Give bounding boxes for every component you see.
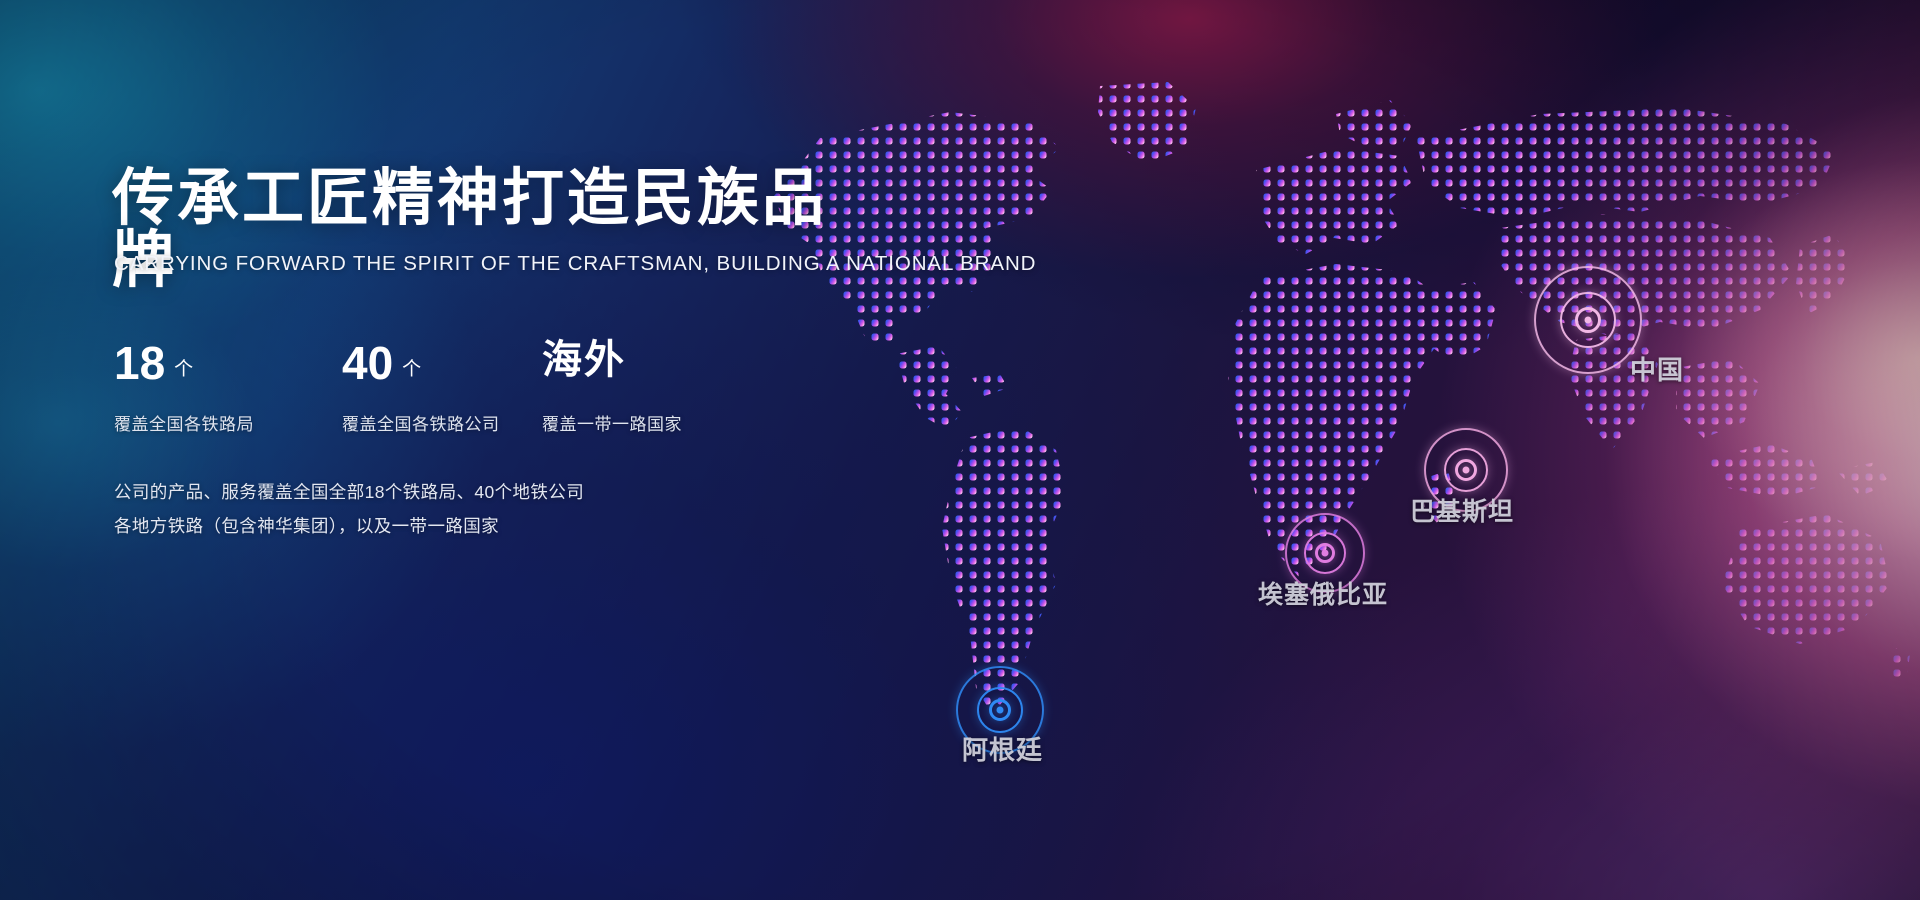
stat-item-overseas: 海外 覆盖一带一路国家 <box>542 340 682 435</box>
stat-value-row: 18 个 <box>114 340 342 396</box>
marker-center-dot-icon <box>997 707 1004 714</box>
stat-description: 覆盖一带一路国家 <box>542 410 682 435</box>
banner-stage: 中国巴基斯坦埃塞俄比亚阿根廷 传承工匠精神打造民族品牌 CARRYING FOR… <box>0 0 1920 900</box>
body-paragraph-line-1: 公司的产品、服务覆盖全国全部18个铁路局、40个地铁公司 <box>114 475 584 509</box>
marker-center-dot-icon <box>1322 550 1329 557</box>
body-paragraph: 公司的产品、服务覆盖全国全部18个铁路局、40个地铁公司 各地方铁路（包含神华集… <box>114 475 584 543</box>
stat-description: 覆盖全国各铁路公司 <box>342 410 542 435</box>
stat-unit: 个 <box>402 354 421 381</box>
stat-value: 18 <box>114 340 165 386</box>
stat-item-railway-companies: 40 个 覆盖全国各铁路公司 <box>342 340 542 435</box>
stat-value: 40 <box>342 340 393 386</box>
map-marker-label-ethiopia: 埃塞俄比亚 <box>1258 575 1388 611</box>
stat-value: 海外 <box>542 340 626 380</box>
stat-value-row: 40 个 <box>342 340 542 396</box>
map-marker-label-china: 中国 <box>1630 350 1684 387</box>
marker-center-dot-icon <box>1585 317 1592 324</box>
map-marker-label-argentina: 阿根廷 <box>962 730 1043 767</box>
map-marker-label-pakistan: 巴基斯坦 <box>1410 492 1514 528</box>
page-subtitle: CARRYING FORWARD THE SPIRIT OF THE CRAFT… <box>114 252 1036 276</box>
stat-value-row: 海外 <box>542 340 682 396</box>
body-paragraph-line-2: 各地方铁路（包含神华集团），以及一带一路国家 <box>114 509 584 543</box>
stat-description: 覆盖全国各铁路局 <box>114 410 342 435</box>
stat-item-railway-bureaus: 18 个 覆盖全国各铁路局 <box>114 340 342 435</box>
stats-row: 18 个 覆盖全国各铁路局 40 个 覆盖全国各铁路公司 海外 覆盖一带一路国家 <box>114 340 682 435</box>
banner-content: 传承工匠精神打造民族品牌 CARRYING FORWARD THE SPIRIT… <box>112 0 872 900</box>
map-marker-china[interactable] <box>1536 268 1640 372</box>
stat-unit: 个 <box>174 354 193 381</box>
marker-center-dot-icon <box>1463 467 1470 474</box>
